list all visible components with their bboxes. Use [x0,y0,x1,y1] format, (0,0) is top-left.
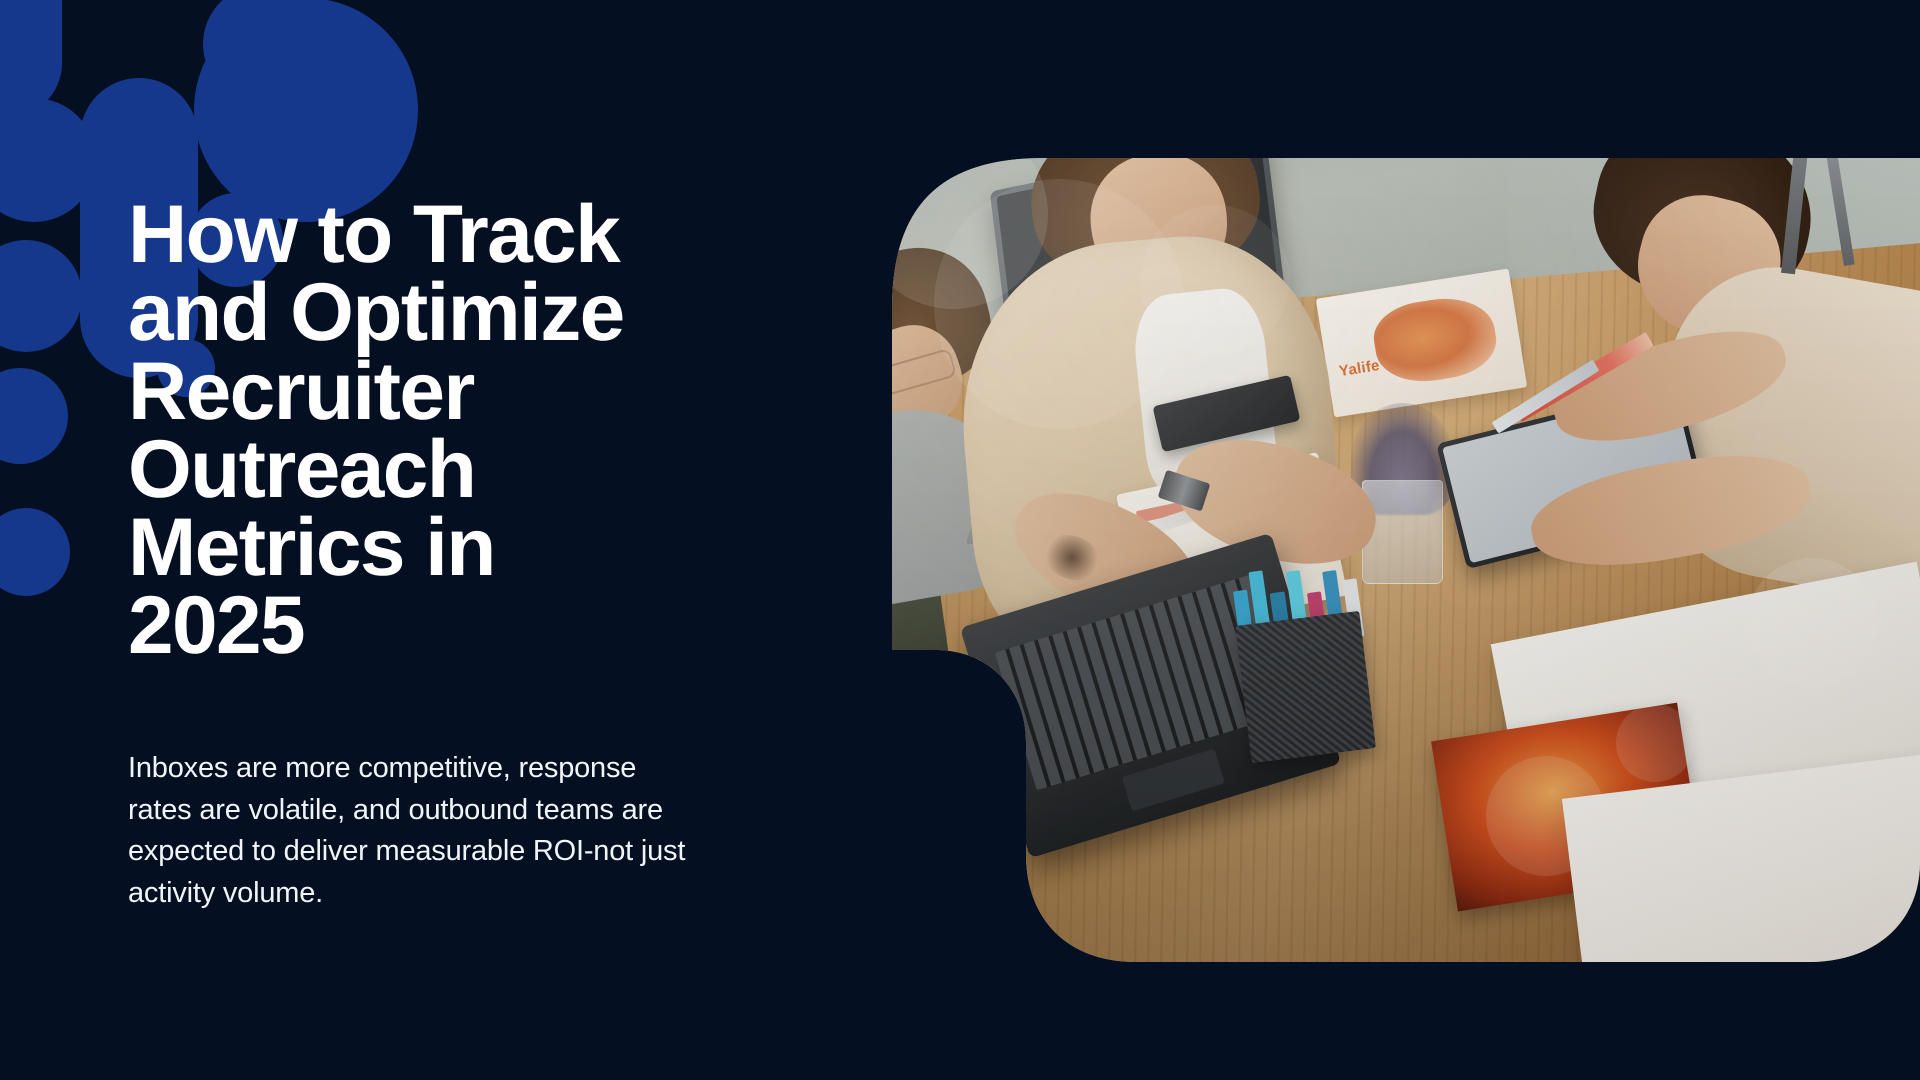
decor-circle-b [0,98,96,222]
photo-magazine-artwork [1369,291,1501,388]
hero-slide: How to Track and Optimize Recruiter Outr… [0,0,1920,1080]
decor-circle-f [0,508,70,596]
hero-subcopy: Inboxes are more competitive, response r… [128,748,688,915]
page-title: How to Track and Optimize Recruiter Outr… [128,196,728,666]
photo-magazine-title: Yalife [1338,357,1381,380]
team-collaboration-photo: Yalife [836,102,1920,962]
decor-circle-c [0,240,82,352]
hero-text-column: How to Track and Optimize Recruiter Outr… [128,196,728,915]
decor-pill-top-left [0,0,62,118]
photo-pen-cup [1235,611,1375,763]
hero-image-container: Yalife [836,102,1920,962]
decor-circle-a [203,0,321,103]
hero-image-mask: Yalife [836,102,1920,962]
photo-glass-jar [1362,480,1443,583]
decor-circle-e [0,368,68,464]
